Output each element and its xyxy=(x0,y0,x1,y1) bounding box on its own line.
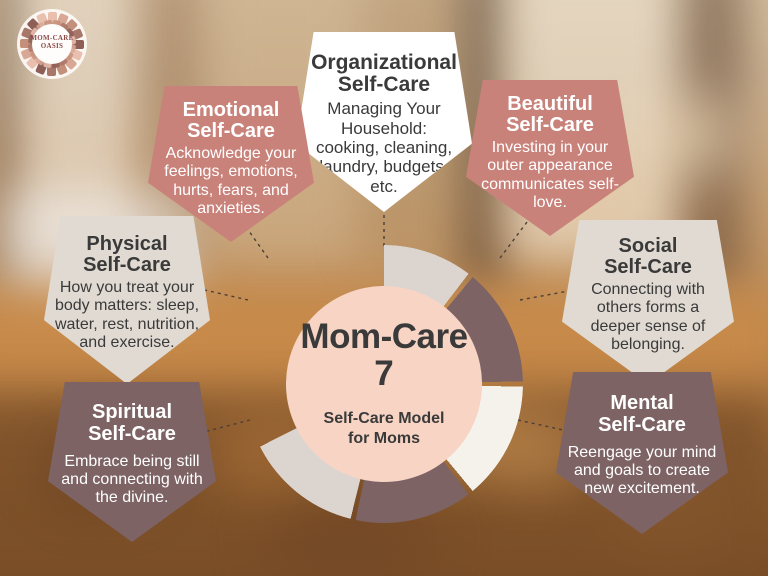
card-mental-title-line2: Self-Care xyxy=(598,414,686,436)
card-spiritual-body: Embrace being still and connecting with … xyxy=(56,453,208,508)
brand-logo[interactable]: MOM-CARE OASIS xyxy=(16,8,88,80)
card-social-body: Connecting with others forms a deeper se… xyxy=(570,281,726,354)
card-mental-title-line1: Mental xyxy=(610,392,673,414)
card-beautiful-title-line2: Self-Care xyxy=(506,114,594,136)
card-organizational-title-line2: Self-Care xyxy=(338,73,430,96)
donut-chart: Mom-Care 7 Self-Care Model for Moms xyxy=(245,245,523,523)
card-spiritual-title-line2: Self-Care xyxy=(88,423,176,445)
card-social-title-line1: Social xyxy=(619,235,678,257)
card-beautiful-title-line1: Beautiful xyxy=(507,93,593,115)
card-physical-title-line1: Physical xyxy=(86,233,167,255)
logo-text-line1: MOM-CARE xyxy=(16,34,88,42)
card-physical-title-line2: Self-Care xyxy=(83,254,171,276)
card-organizational-title-line1: Organizational xyxy=(311,51,457,74)
logo-text-line2: OASIS xyxy=(16,42,88,50)
card-physical-body: How you treat your body matters: sleep, … xyxy=(52,279,202,352)
center-title: Mom-Care xyxy=(300,319,467,354)
center-number: 7 xyxy=(374,354,393,394)
center-subtitle-line2: for Moms xyxy=(324,429,445,449)
donut-center-label: Mom-Care 7 Self-Care Model for Moms xyxy=(286,286,482,482)
card-spiritual-title-line1: Spiritual xyxy=(92,401,172,423)
card-social-title-line2: Self-Care xyxy=(604,256,692,278)
card-mental-body: Reengage your mind and goals to create n… xyxy=(564,444,720,499)
infographic-canvas: MOM-CARE OASIS Mom-Care 7 Self-Care Mode… xyxy=(0,0,768,576)
center-subtitle-line1: Self-Care Model xyxy=(324,409,445,429)
card-emotional-title-line2: Self-Care xyxy=(187,120,275,142)
card-emotional-title-line1: Emotional xyxy=(183,99,280,121)
